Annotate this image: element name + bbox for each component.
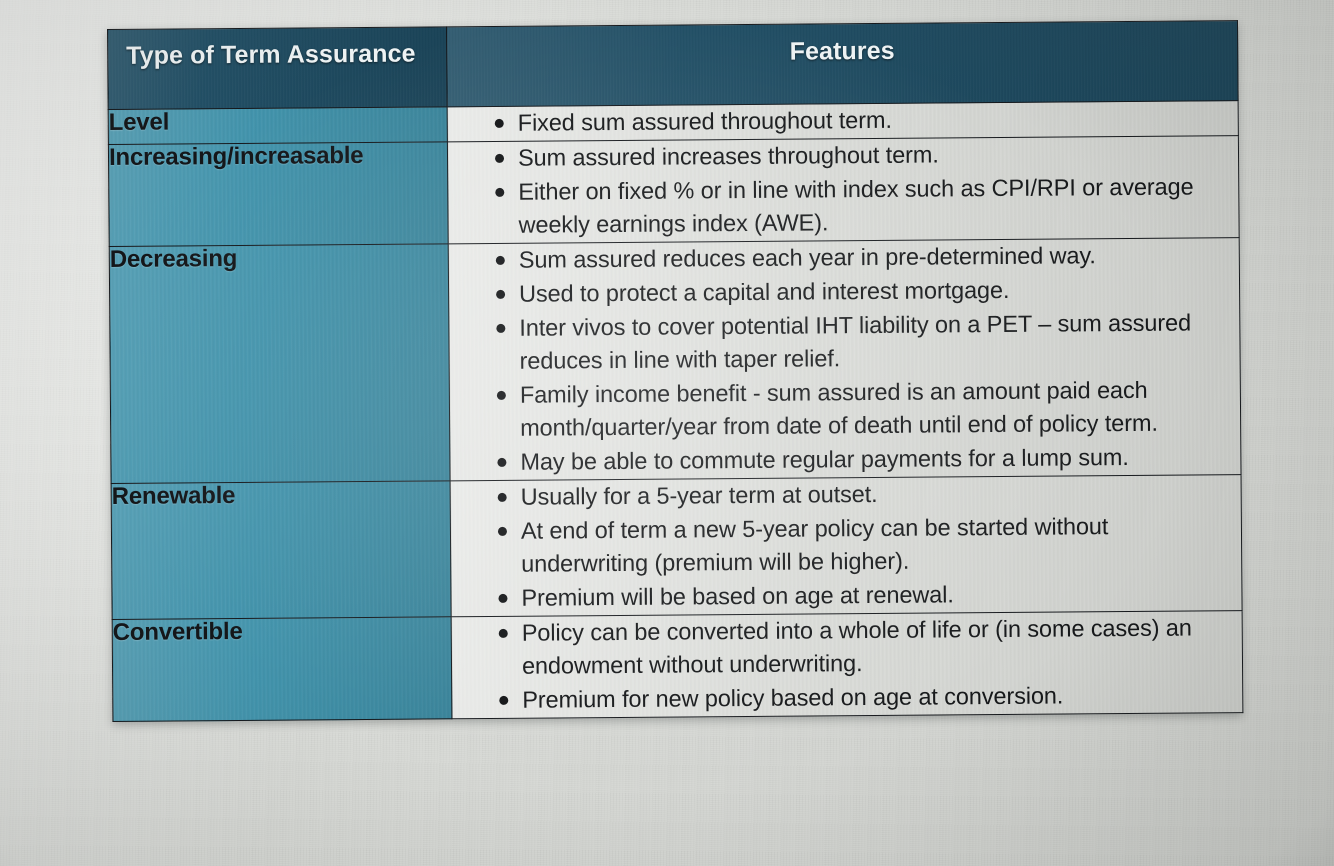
feature-text: Inter vivos to cover potential IHT liabi… [519,309,1191,373]
feature-text: Family income benefit - sum assured is a… [520,377,1158,441]
term-type-cell: Renewable [111,481,451,620]
feature-bullet-item: Sum assured increases throughout term. [448,136,1238,175]
bullet-icon [499,629,508,638]
feature-text: Either on fixed % or in line with index … [518,173,1193,237]
term-type-label: Decreasing [110,244,448,274]
table-row: RenewableUsually for a 5-year term at ou… [111,475,1242,620]
bullet-icon [498,594,507,603]
features-cell: Sum assured reduces each year in pre-det… [448,238,1241,481]
table-row: DecreasingSum assured reduces each year … [109,238,1241,484]
feature-bullet-item: Usually for a 5-year term at outset. [451,475,1241,514]
term-type-label: Level [109,107,447,137]
bullet-icon [495,154,504,163]
features-list: Policy can be converted into a whole of … [452,611,1243,717]
feature-bullet-item: Premium for new policy based on age at c… [452,678,1242,717]
feature-bullet-item: Fixed sum assured throughout term. [448,101,1238,140]
bullet-icon [495,119,504,128]
feature-bullet-item: Policy can be converted into a whole of … [452,611,1242,683]
bullet-icon [496,256,505,265]
column-header-features: Features [446,21,1238,107]
term-type-cell: Level [108,107,447,145]
feature-text: Used to protect a capital and interest m… [519,277,1009,307]
bullet-icon [497,391,506,400]
bullet-icon [499,696,508,705]
column-header-type-of-term-assurance: Type of Term Assurance [108,27,448,110]
term-type-label: Renewable [112,481,450,511]
bullet-icon [496,290,505,299]
term-type-cell: Convertible [112,617,452,722]
feature-bullet-item: Inter vivos to cover potential IHT liabi… [449,306,1239,378]
feature-text: At end of term a new 5-year policy can b… [521,513,1109,577]
feature-bullet-item: At end of term a new 5-year policy can b… [451,509,1241,581]
feature-bullet-item: Either on fixed % or in line with index … [448,170,1238,242]
term-type-cell: Increasing/increasable [108,142,448,247]
term-assurance-table-container: Type of Term Assurance Features LevelFix… [107,20,1242,722]
bullet-icon [495,188,504,197]
feature-bullet-item: May be able to commute regular payments … [450,440,1240,479]
feature-bullet-item: Sum assured reduces each year in pre-det… [449,238,1239,277]
table-body: LevelFixed sum assured throughout term.I… [108,101,1243,722]
features-list: Sum assured increases throughout term.Ei… [448,136,1239,242]
feature-text: May be able to commute regular payments … [520,444,1129,475]
term-assurance-table: Type of Term Assurance Features LevelFix… [107,20,1243,722]
features-cell: Policy can be converted into a whole of … [451,611,1243,719]
bullet-icon [498,493,507,502]
table-header-row: Type of Term Assurance Features [108,21,1239,110]
feature-text: Usually for a 5-year term at outset. [521,481,878,510]
feature-text: Sum assured increases throughout term. [518,141,939,170]
term-type-label: Increasing/increasable [109,142,447,172]
bullet-icon [498,527,507,536]
features-list: Sum assured reduces each year in pre-det… [449,238,1241,479]
table-row: Increasing/increasableSum assured increa… [108,136,1239,247]
bullet-icon [497,458,506,467]
features-cell: Usually for a 5-year term at outset.At e… [450,475,1242,617]
feature-text: Fixed sum assured throughout term. [518,107,892,136]
table-row: ConvertiblePolicy can be converted into … [112,611,1243,722]
features-list: Fixed sum assured throughout term. [448,101,1238,140]
bullet-icon [496,324,505,333]
feature-text: Policy can be converted into a whole of … [522,614,1192,678]
features-cell: Sum assured increases throughout term.Ei… [447,136,1239,244]
feature-text: Premium will be based on age at renewal. [521,581,953,610]
features-list: Usually for a 5-year term at outset.At e… [451,475,1242,615]
feature-text: Premium for new policy based on age at c… [522,683,1063,713]
feature-text: Sum assured reduces each year in pre-det… [519,242,1096,273]
feature-bullet-item: Premium will be based on age at renewal. [451,576,1241,615]
term-type-cell: Decreasing [109,244,450,484]
table-header: Type of Term Assurance Features [108,21,1239,110]
term-type-label: Convertible [113,617,451,647]
feature-bullet-item: Family income benefit - sum assured is a… [450,373,1240,445]
feature-bullet-item: Used to protect a capital and interest m… [449,272,1239,311]
